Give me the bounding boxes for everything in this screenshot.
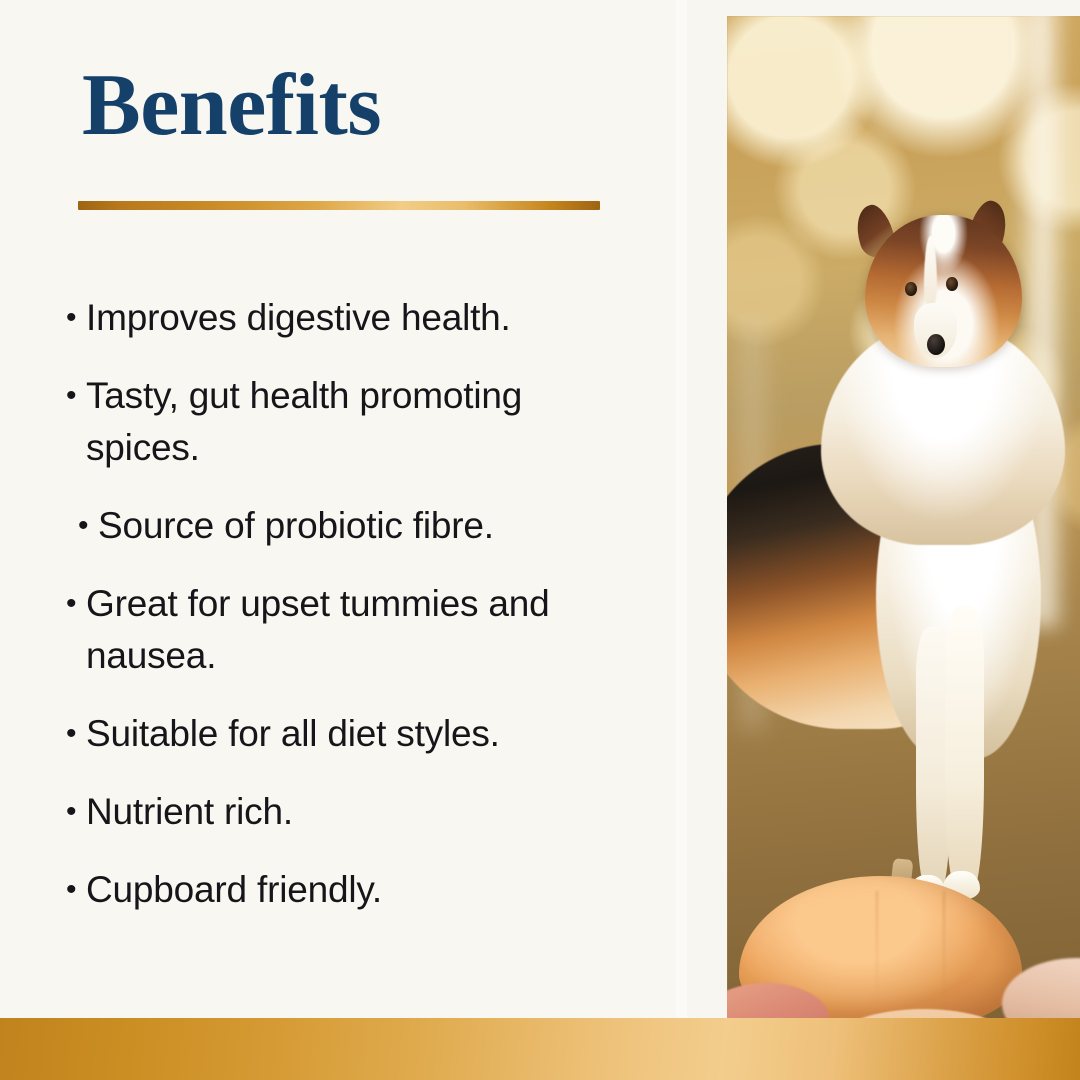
dog-nose xyxy=(927,334,945,355)
list-item: • Cupboard friendly. xyxy=(66,864,656,916)
page-title: Benefits xyxy=(82,62,381,150)
bullet-icon: • xyxy=(66,292,86,344)
list-item: • Tasty, gut health promoting spices. xyxy=(66,370,656,474)
benefit-text: Source of probiotic fibre. xyxy=(98,500,638,552)
dog-back-leg xyxy=(945,606,984,891)
bullet-icon: • xyxy=(66,370,86,422)
title-divider xyxy=(78,201,600,210)
benefit-text: Tasty, gut health promoting spices. xyxy=(86,370,626,474)
pumpkin-rib xyxy=(876,891,878,1013)
list-item: • Suitable for all diet styles. xyxy=(66,708,656,760)
bottom-gold-bar xyxy=(0,1018,1080,1080)
panel-photo-gap xyxy=(676,0,687,1018)
dog-photo xyxy=(727,16,1080,1034)
bullet-icon: • xyxy=(66,786,86,838)
list-item: • Improves digestive health. xyxy=(66,292,656,344)
list-item: • Source of probiotic fibre. xyxy=(66,500,656,552)
list-item: • Nutrient rich. xyxy=(66,786,656,838)
benefit-text: Great for upset tummies and nausea. xyxy=(86,578,626,682)
benefits-poster: Benefits • Improves digestive health. • … xyxy=(0,0,1080,1080)
benefit-text: Nutrient rich. xyxy=(86,786,626,838)
bullet-icon: • xyxy=(78,500,98,552)
pumpkin-rib xyxy=(943,891,945,1018)
bullet-icon: • xyxy=(66,708,86,760)
benefit-text: Suitable for all diet styles. xyxy=(86,708,626,760)
text-panel: Benefits • Improves digestive health. • … xyxy=(0,0,676,1018)
list-item: • Great for upset tummies and nausea. xyxy=(66,578,656,682)
benefits-list: • Improves digestive health. • Tasty, gu… xyxy=(66,292,656,942)
benefit-text: Cupboard friendly. xyxy=(86,864,626,916)
benefit-text: Improves digestive health. xyxy=(86,292,626,344)
dog-eye-right xyxy=(946,277,958,292)
bullet-icon: • xyxy=(66,578,86,630)
bullet-icon: • xyxy=(66,864,86,916)
